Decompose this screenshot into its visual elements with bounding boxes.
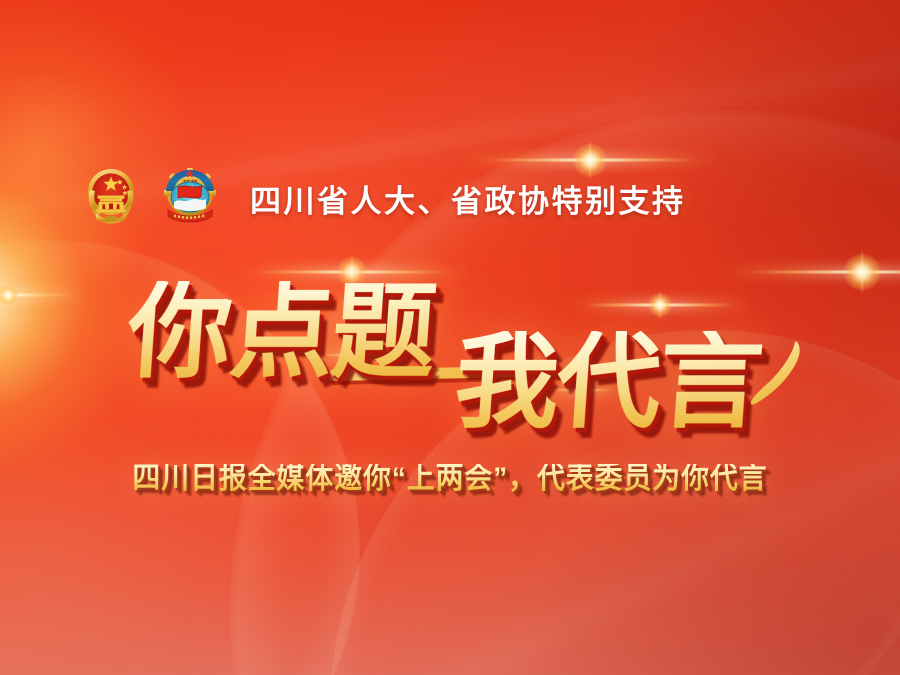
poster-banner: 1949 [0,0,900,675]
subtitle-text: 四川日报全媒体邀你“上两会”，代表委员为你代言 [32,464,869,494]
title-part-a: 你点题 [124,281,437,385]
main-title-group: 你点题 我代言 [0,0,900,675]
title-part-b: 我代言 [451,331,764,435]
